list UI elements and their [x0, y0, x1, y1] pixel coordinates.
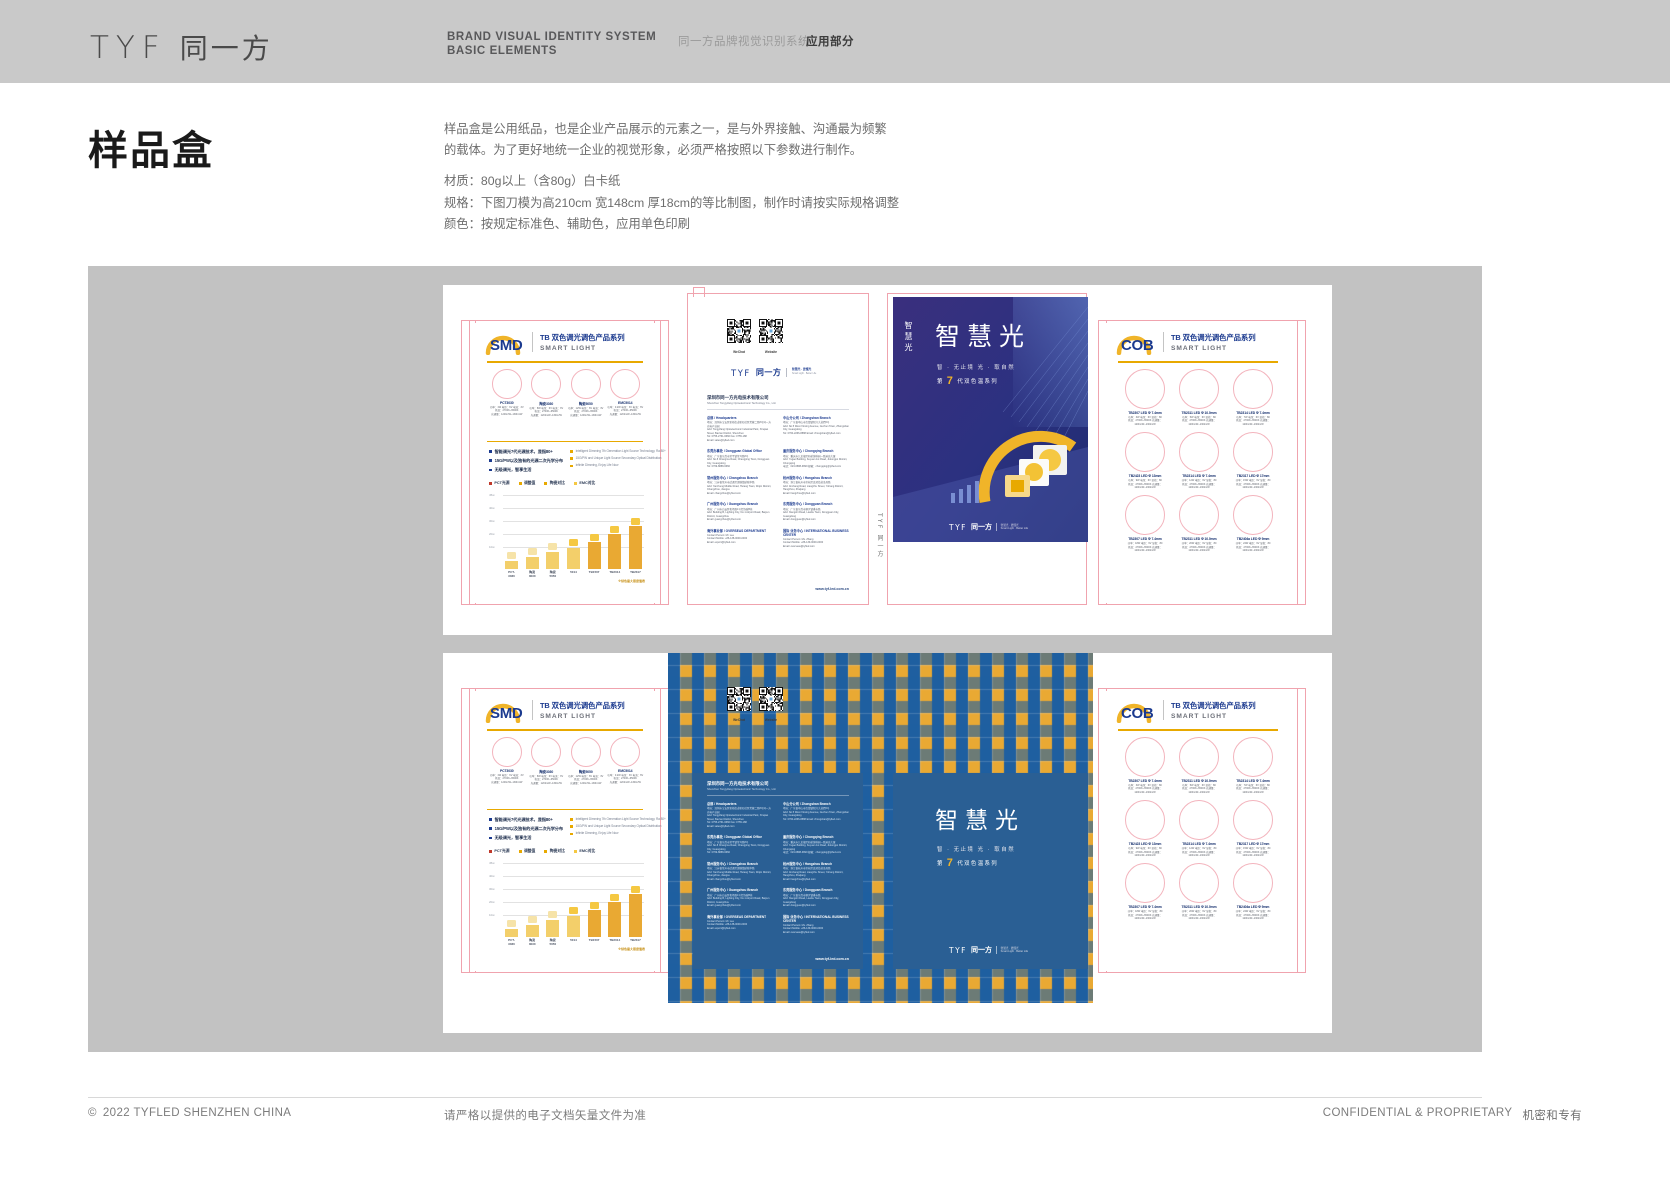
chip-swatch-icon	[569, 907, 578, 914]
chart-gridline	[503, 863, 644, 864]
chart-gridline	[503, 495, 644, 496]
chart-y-tick-label: 10w	[489, 545, 495, 549]
product-cell[interactable]: PCT3030 功率：1W 电压：6V 电流：3V色温：2700K~6500K光…	[487, 737, 527, 785]
legend-swatch-icon	[519, 850, 522, 853]
product-cell[interactable]: 陶瓷5050 功率：12W 电压：6V 电流：3V色温：2700K~6500K光…	[566, 737, 606, 785]
product-name: TB2317 LED Φ 17mm	[1226, 842, 1280, 846]
series-suffix: 代双色温系列	[957, 377, 998, 385]
office-body: 地址：深圳市宝安区新桥街道新和社区芙蓉二路8号同一方光电产业园Add: Tong…	[707, 421, 773, 442]
office-body: 地址：浙江省杭州市余杭区良渚街道金昌路Add: Jinchang Road, L…	[783, 481, 849, 495]
office-entry: 杭州服务中心 / Hangzhou Branch 地址：浙江省杭州市余杭区良渚街…	[783, 475, 849, 495]
chart-y-tick-label: 20w	[489, 900, 495, 904]
cob-spec-sheet-bottom: COB TB 双色调光调色产品系列 SMART LIGHT TB2307 LED…	[1106, 691, 1291, 971]
cob-title-cn-b: TB 双色调光调色产品系列	[1171, 700, 1256, 711]
office-body: Contact Person: Mr. LeeContact Mobile: +…	[707, 920, 773, 931]
chart-bar-column	[629, 518, 642, 569]
product-name: EMC5014	[606, 401, 646, 405]
legend-item: PCT光源	[489, 849, 510, 854]
chart-gridline	[503, 521, 644, 522]
product-cell[interactable]: 陶瓷3030 功率：8W 电压：6V 电流：3V色温：2700K~6500K光通…	[527, 369, 567, 417]
product-circle-outline	[1125, 737, 1165, 777]
office-entry: 总部 / Headquarters 地址：深圳市宝安区新桥街道新和社区芙蓉二路8…	[707, 415, 773, 442]
footer-confidential: CONFIDENTIAL & PROPRIETARY 机密和专有	[1323, 1107, 1582, 1123]
legend-item: EMC对比	[574, 849, 595, 854]
chip-swatch-icon	[631, 886, 640, 893]
cover-brand-lockup: TYF 同一方 智慧光 · 更懂光 Smart Light · Better L…	[949, 522, 1028, 532]
office-entry: 重庆服务中心 / Chongqing Branch 地址：重庆市九龙坡区石桥铺科…	[783, 834, 849, 854]
bullet-text: 无级调光，智享生活	[495, 467, 532, 473]
product-name: 陶瓷5050	[566, 769, 606, 774]
product-cell[interactable]: PCT3030 功率：1W 电压：6V 电流：3V色温：2700K~6500K光…	[487, 369, 527, 417]
office-title: 海外事业部 / OVERSEAS DEPARTMENT	[707, 914, 773, 919]
office-entry: 常州服务中心 / Changzhou Branch 地址：江苏省常州市武进区湖塘…	[707, 861, 773, 881]
contact-logo-mark: TYF	[731, 368, 751, 378]
cob-product-grid: TB2307 LED Φ 7.4mm 功率：3W 电压：6V 显指：80色温：2…	[1118, 369, 1280, 553]
cover-slogan-b: 智慧光 · 更懂光 Smart Light · Better Life	[1001, 947, 1028, 954]
product-name: TB2423 LED Φ 13mm	[1118, 474, 1172, 478]
product-name: TB2314 LED Φ 7.4mm	[1172, 474, 1226, 478]
company-name-en: Shenzhen Tongyifang Optoelectronic Techn…	[707, 402, 776, 405]
logo-divider	[786, 368, 787, 377]
bullet-dot-icon	[489, 837, 492, 840]
product-spec: 功率：1W 电压：6V 电流：3V色温：2700K~6500K光通量：120lm…	[487, 774, 527, 784]
product-spec: 功率：3W 电压：6V 显指：80色温：2700K~6500K 光通量：120l…	[1118, 416, 1172, 426]
product-spec: 功率：12W 电压：6V 电流：3V色温：2700K~6500K光通量：120l…	[566, 775, 606, 785]
company-name-cn: 深圳市同一方光电技术有限公司	[707, 395, 768, 400]
product-name: PCT3030	[487, 769, 527, 773]
feature-bullet: 无级调光，智享生活	[489, 835, 564, 841]
bullet-dot-icon	[489, 818, 492, 821]
bullet-text: Infinite Dimming, Enjoy Life Now	[576, 463, 619, 467]
chip-swatch-icon	[610, 894, 619, 901]
office-body: 地址：广东省中山市古镇镇新兴大道西5号Add: No.5 West Xinxin…	[783, 807, 849, 821]
smd-spec-sheet: SMD TB 双色调光调色产品系列 SMART LIGHT PCT3030 功率…	[475, 323, 655, 603]
smd-bullets-chinese-b: 智能调光7代光源技术，显指80+ 15G/PW以及独有的光源二次光学分布 无级调…	[489, 817, 564, 845]
bullet-text: Infinite Dimming, Enjoy Life Now	[576, 831, 619, 835]
office-body: 地址：广州市白云区机场路1号灯饰城B栋Add: Building B, Ligh…	[707, 508, 773, 522]
cover-slogan-en: Smart Light · Better Life	[1001, 527, 1028, 530]
product-circle-outline	[1233, 369, 1273, 409]
chart-bar-column	[505, 920, 518, 937]
office-body: 地址：浙江省杭州市余杭区良渚街道金昌路Add: Jinchang Road, L…	[783, 867, 849, 881]
product-cell[interactable]: EMC5014 功率：0.2W 电压：3V 电流：6V色温：2700K~6500…	[606, 369, 646, 417]
confidential-en: CONFIDENTIAL & PROPRIETARY	[1323, 1107, 1513, 1123]
spine-brand-text: TYF 同一方	[875, 513, 884, 559]
office-entry: 东莞服务中心 / Dongguan Branch 地址：广东省东莞市寮步镇香市路…	[783, 887, 849, 907]
product-cell[interactable]: TB2307 LED Φ 7.4mm 功率：18W 电压：6V 显指：80色温：…	[1118, 495, 1172, 552]
product-spec: 功率：24W 电压：6V 显指：80色温：2700K~6500K 光通量：120…	[1226, 542, 1280, 552]
product-name: TB2314 LED Φ 7.4mm	[1226, 411, 1280, 415]
chip-swatch-icon	[548, 543, 557, 550]
spec-list: 材质：80g以上（含80g）白卡纸 规格：下图刀模为高210cm 宽148cm …	[444, 171, 1004, 236]
product-cell[interactable]: TB2423 LED Φ 13mm 功率：9W 电压：6V 显指：80色温：27…	[1118, 432, 1172, 489]
cob-header-titles-b: TB 双色调光调色产品系列 SMART LIGHT	[1171, 700, 1256, 720]
chart-legend: PCT光源 调整值 陶瓷对比 EMC对比	[489, 481, 595, 486]
product-circle-outline	[531, 737, 561, 767]
smd-badge-b: SMD	[485, 697, 525, 723]
office-entry: 中山分公司 / Zhongshan Branch 地址：广东省中山市古镇镇新兴大…	[783, 801, 849, 828]
product-name: TB2307 LED Φ 7.4mm	[1118, 905, 1172, 909]
product-circle-outline	[1233, 863, 1273, 903]
cob-badge-text: COB	[1121, 337, 1153, 354]
legend-item: 调整值	[519, 849, 536, 854]
qr-caption: Website	[759, 718, 783, 722]
qr-code-row-b: WeChat Website	[727, 687, 783, 722]
chart-x-label: 陶瓷 5050	[546, 570, 559, 578]
product-cover-artwork-bottom: 智慧光 智 · 无止境 光 · 取自然 第 7 代双色温系列 TYF 同一方 智…	[893, 773, 1088, 969]
legend-swatch-icon	[489, 482, 492, 485]
smd-spec-sheet-bottom: SMD TB 双色调光调色产品系列 SMART LIGHT PCT3030 功率…	[475, 691, 655, 971]
product-cell[interactable]: TB2307 LED Φ 7.4mm 功率：3W 电压：6V 显指：80色温：2…	[1118, 369, 1172, 426]
product-cell[interactable]: TB2307 LED Φ 7.4mm 功率：3W 电压：6V 显指：80色温：2…	[1118, 737, 1172, 794]
chart-x-label: PCT-3030	[505, 570, 518, 578]
chip-swatch-icon	[548, 911, 557, 918]
legend-item: 陶瓷对比	[544, 849, 565, 854]
chart-bar	[588, 542, 601, 569]
footer-copyright: © 2022 TYFLED SHENZHEN CHINA	[88, 1107, 291, 1119]
cover-logo-divider-b	[996, 946, 997, 954]
product-cell[interactable]: TB2423 LED Φ 13mm 功率：9W 电压：6V 显指：80色温：27…	[1118, 800, 1172, 857]
cob-gold-rule	[1118, 361, 1278, 363]
bullet-text: 15G/PW以及独有的光源二次光学分布	[495, 458, 563, 464]
product-spec: 功率：3W 电压：6V 显指：80色温：2700K~6500K 光通量：120l…	[1118, 784, 1172, 794]
chart-bar-column	[546, 543, 559, 569]
legend-label: EMC对比	[579, 481, 595, 486]
chart-bar	[608, 902, 621, 937]
series-number: 7	[947, 375, 955, 387]
smd-sheet-header: SMD TB 双色调光调色产品系列 SMART LIGHT	[485, 329, 625, 355]
legend-item: 调整值	[519, 481, 536, 486]
product-spec: 功率：18W 电压：6V 显指：80色温：2700K~6500K 光通量：120…	[1118, 542, 1172, 552]
dieline-board-tartan: SMD TB 双色调光调色产品系列 SMART LIGHT PCT3030 功率…	[443, 653, 1332, 1033]
smd-title-cn: TB 双色调光调色产品系列	[540, 332, 625, 343]
office-entry: 总部 / Headquarters 地址：深圳市宝安区新桥街道新和社区芙蓉二路8…	[707, 801, 773, 828]
chart-bars	[505, 523, 642, 569]
cover-subtitle-slogan-b: 智 · 无止境 光 · 取自然	[937, 845, 1015, 853]
footer-divider	[88, 1097, 1482, 1098]
cob-title-en-b: SMART LIGHT	[1171, 713, 1256, 720]
office-body: 地址：广东省东莞市寮步镇香市路Add: Xiangshi Road, Liaob…	[783, 508, 849, 522]
cob-title-en: SMART LIGHT	[1171, 345, 1256, 352]
office-body: Contact Person: Mr. LeeContact Mobile: +…	[707, 534, 773, 545]
chart-y-tick-label: 45w	[489, 861, 495, 865]
smd-header-titles: TB 双色调光调色产品系列 SMART LIGHT	[540, 332, 625, 352]
cob-sheet-header: COB TB 双色调光调色产品系列 SMART LIGHT	[1116, 329, 1256, 355]
product-circle-outline	[1179, 800, 1219, 840]
chart-gridline	[503, 508, 644, 509]
smd-rule-2-b	[487, 809, 643, 810]
chart-x-label: 陶瓷 5050	[546, 938, 559, 946]
product-cell[interactable]: TB2314 LED Φ 7.4mm 功率：7W 电压：6V 显指：80色温：2…	[1226, 737, 1280, 794]
product-circle-outline	[492, 737, 522, 767]
product-circle-outline	[492, 369, 522, 399]
cob-header-titles: TB 双色调光调色产品系列 SMART LIGHT	[1171, 332, 1256, 352]
company-name-en-b: Shenzhen Tongyifang Optoelectronic Techn…	[707, 788, 776, 791]
series-suffix-b: 代双色温系列	[957, 859, 998, 867]
smd-title-cn-b: TB 双色调光调色产品系列	[540, 700, 625, 711]
chart-x-label: 5014	[567, 570, 580, 578]
product-spec: 功率：8W 电压：6V 电流：3V色温：2700K~6500K光通量：120lm…	[527, 407, 567, 417]
product-circle-outline	[610, 369, 640, 399]
contact-blue-block: 深圳市同一方光电技术有限公司 Shenzhen Tongyifang Optoe…	[693, 773, 863, 969]
header-divider	[1163, 332, 1164, 352]
intro-paragraph: 样品盒是公用纸品，也是企业产品展示的元素之一，是与外界接触、沟通最为频繁的载体。…	[444, 119, 896, 161]
product-cell[interactable]: TB2307 LED Φ 7.4mm 功率：18W 电压：6V 显指：80色温：…	[1118, 863, 1172, 920]
qr-code-item[interactable]: Website	[759, 319, 783, 354]
header-section-label: 应用部分	[806, 33, 854, 49]
feature-bullet: 15G/PW以及独有的光源二次光学分布	[489, 458, 564, 464]
office-body: 地址：江苏省常州市武进区湖塘镇延政中路Add: Yanzheng Middle …	[707, 481, 773, 495]
product-name: TB2311 LED Φ 10.0mm	[1172, 537, 1226, 541]
qr-code-item[interactable]: WeChat	[727, 319, 751, 354]
product-spec: 功率：15W 电压：6V 显指：80色温：2700K~6500K 光通量：120…	[1226, 847, 1280, 857]
chart-bar	[505, 561, 518, 569]
product-name: TB2317 LED Φ 17mm	[1226, 474, 1280, 478]
product-cell[interactable]: TB2311 LED Φ 10.0mm 功率：20W 电压：6V 显指：80色温…	[1172, 495, 1226, 552]
cob-badge: COB	[1116, 329, 1156, 355]
product-cell[interactable]: EMC5014 功率：0.2W 电压：3V 电流：6V色温：2700K~6500…	[606, 737, 646, 785]
product-circle-outline	[1179, 432, 1219, 472]
bullet-dot-icon	[489, 459, 492, 462]
office-entry: 东莞办事处 / Dongguan Global Office 地址：广东省东莞市…	[707, 448, 773, 468]
office-entry: 杭州服务中心 / Hangzhou Branch 地址：浙江省杭州市余杭区良渚街…	[783, 861, 849, 881]
header-system-name: 同一方品牌视觉识别系统	[678, 33, 810, 49]
office-entry: 常州服务中心 / Changzhou Branch 地址：江苏省常州市武进区湖塘…	[707, 475, 773, 495]
office-title: 常州服务中心 / Changzhou Branch	[707, 475, 773, 480]
product-circle-outline	[571, 737, 601, 767]
series-number-b: 7	[947, 857, 955, 869]
product-cell[interactable]: 陶瓷5050 功率：12W 电压：6V 电流：3V色温：2700K~6500K光…	[566, 369, 606, 417]
product-cell[interactable]: TB2404a LED Φ 9mm 功率：24W 电压：6V 显指：80色温：2…	[1226, 495, 1280, 552]
office-title: 国际 业务中心 / INTERNATIONAL BUSINESS CENTER	[783, 528, 849, 537]
chart-bar-column	[608, 526, 621, 569]
company-name-block: 深圳市同一方光电技术有限公司 Shenzhen Tongyifang Optoe…	[707, 395, 776, 405]
website-url: www.tyf-led.com.cn	[815, 587, 849, 591]
series-prefix-b: 第	[937, 859, 944, 867]
product-circle-outline	[1125, 495, 1165, 535]
chart-bar-column	[567, 539, 580, 569]
product-name: 陶瓷3030	[527, 401, 567, 406]
chart-bar	[526, 925, 539, 937]
bullet-dot-icon	[570, 818, 573, 821]
cover-logo-mark-b: TYF	[949, 946, 967, 955]
chart-x-label: 陶瓷 3030	[526, 570, 539, 578]
product-circle-outline	[1233, 800, 1273, 840]
product-spec: 功率：24W 电压：6V 显指：80色温：2700K~6500K 光通量：120…	[1226, 910, 1280, 920]
chip-swatch-icon	[569, 539, 578, 546]
legend-item: EMC对比	[574, 481, 595, 486]
office-title: 东莞办事处 / Dongguan Global Office	[707, 834, 773, 839]
header-divider	[532, 700, 533, 720]
office-entry: 广州服务中心 / Guangzhou Branch 地址：广州市白云区机场路1号…	[707, 501, 773, 521]
feature-bullet: Infinite Dimming, Enjoy Life Now	[570, 463, 648, 467]
company-name-cn-b: 深圳市同一方光电技术有限公司	[707, 781, 768, 786]
artwork-stage: SMD TB 双色调光调色产品系列 SMART LIGHT PCT3030 功率…	[88, 266, 1482, 1052]
office-body: 地址：广东省东莞市寮步镇香市路Add: Xiangshi Road, Liaob…	[783, 894, 849, 908]
smd-title-en-b: SMART LIGHT	[540, 713, 625, 720]
page-title: 样品盒	[88, 118, 214, 176]
smd-badge-text: SMD	[490, 337, 522, 354]
feature-bullet: 15G/PW以及独有的光源二次光学分布	[489, 826, 564, 832]
qr-code-item[interactable]: Website	[759, 687, 783, 722]
product-cell[interactable]: TB2314 LED Φ 7.4mm 功率：12W 电压：6V 显指：80色温：…	[1172, 432, 1226, 489]
legend-swatch-icon	[489, 850, 492, 853]
feature-bullet: Infinite Dimming, Enjoy Life Now	[570, 831, 648, 835]
chart-x-label: TB2317	[629, 570, 642, 578]
office-entry: 中山分公司 / Zhongshan Branch 地址：广东省中山市古镇镇新兴大…	[783, 415, 849, 442]
chart-x-label: TB2014	[608, 938, 621, 946]
chart-bar-column	[608, 894, 621, 937]
product-cell[interactable]: TB2317 LED Φ 17mm 功率：15W 电压：6V 显指：80色温：2…	[1226, 432, 1280, 489]
office-address-grid-b: 总部 / Headquarters 地址：深圳市宝安区新桥街道新和社区芙蓉二路8…	[707, 801, 849, 934]
series-prefix: 第	[937, 377, 944, 385]
chart-gridline	[503, 889, 644, 890]
page-header: TYF 同一方 BRAND VISUAL IDENTITY SYSTEM BAS…	[0, 0, 1670, 83]
product-circle-outline	[1233, 432, 1273, 472]
chart-y-tick-label: 40w	[489, 874, 495, 878]
office-entry: 重庆服务中心 / Chongqing Branch 地址：重庆市九龙坡区石桥铺科…	[783, 448, 849, 468]
chart-x-label: TB2014	[608, 570, 621, 578]
product-circle-outline	[1233, 737, 1273, 777]
chart-x-label: TB1507	[588, 938, 601, 946]
legend-item: 陶瓷对比	[544, 481, 565, 486]
cover-spine-title: 智慧光	[903, 321, 914, 354]
logo-mark-text: TYF	[90, 30, 167, 66]
qr-caption: Website	[759, 350, 783, 354]
office-title: 杭州服务中心 / Hangzhou Branch	[783, 475, 849, 480]
chart-y-tick-label: 45w	[489, 493, 495, 497]
product-name: TB2307 LED Φ 7.4mm	[1118, 537, 1172, 541]
legend-label: PCT光源	[494, 849, 509, 854]
chart-bar	[608, 534, 621, 569]
contact-panel: WeChat Website TYF 同一方 智慧光 · 更懂光 Smart L…	[693, 297, 863, 601]
cob-gold-rule-b	[1118, 729, 1278, 731]
website-url-b: www.tyf-led.com.cn	[815, 957, 849, 961]
cover-brand-lockup-b: TYF 同一方 智慧光 · 更懂光 Smart Light · Better L…	[949, 945, 1028, 955]
product-circle-outline	[1125, 369, 1165, 409]
bullet-dot-icon	[570, 465, 573, 468]
product-name: TB2404a LED Φ 9mm	[1226, 905, 1280, 909]
qr-code-item[interactable]: WeChat	[727, 687, 751, 722]
product-circle-outline	[1125, 800, 1165, 840]
product-circle-outline	[1179, 369, 1219, 409]
office-entry: 海外事业部 / OVERSEAS DEPARTMENT Contact Pers…	[707, 528, 773, 549]
cover-main-title: 智慧光	[935, 325, 1031, 350]
cover-logo-mark: TYF	[949, 523, 967, 532]
logo-chinese-text: 同一方	[180, 27, 273, 67]
brand-logo[interactable]: TYF 同一方	[90, 27, 273, 67]
product-spec: 功率：0.2W 电压：3V 电流：6V色温：2700K~6500K光通量：120…	[606, 406, 646, 416]
product-cell[interactable]: TB2314 LED Φ 7.4mm 功率：12W 电压：6V 显指：80色温：…	[1172, 800, 1226, 857]
chart-y-tick-label: 30w	[489, 887, 495, 891]
feature-bullet: 智能调光7代光源技术，显指80+	[489, 449, 564, 455]
product-cell[interactable]: TB2311 LED Φ 10.0mm 功率：5W 电压：6V 显指：80色温：…	[1172, 737, 1226, 794]
office-body: 地址：广东省中山市古镇镇新兴大道西5号Add: No.5 West Xinxin…	[783, 421, 849, 435]
legend-swatch-icon	[519, 482, 522, 485]
header-english-title: BRAND VISUAL IDENTITY SYSTEM BASIC ELEME…	[447, 31, 656, 58]
product-cell[interactable]: 陶瓷3030 功率：8W 电压：6V 电流：3V色温：2700K~6500K光通…	[527, 737, 567, 785]
product-spec: 功率：20W 电压：6V 显指：80色温：2700K~6500K 光通量：120…	[1172, 910, 1226, 920]
office-title: 东莞服务中心 / Dongguan Branch	[783, 887, 849, 892]
power-comparison-chart-b: 45w 40w 30w 20w 10w	[489, 859, 644, 947]
legend-label: 调整值	[524, 481, 535, 486]
product-cell[interactable]: TB2311 LED Φ 10.0mm 功率：5W 电压：6V 显指：80色温：…	[1172, 369, 1226, 426]
office-title: 重庆服务中心 / Chongqing Branch	[783, 834, 849, 839]
product-circle-outline	[1179, 737, 1219, 777]
office-body: 地址：广东省东莞市常平镇常马路8号Add: No.8 Changma Road,…	[707, 841, 773, 855]
product-circle-outline	[1125, 432, 1165, 472]
cover-slogan-en-b: Smart Light · Better Life	[1001, 950, 1028, 953]
header-divider	[1163, 700, 1164, 720]
bullet-dot-icon	[489, 827, 492, 830]
cover-series-line-b: 第 7 代双色温系列	[937, 857, 998, 869]
chart-x-labels: PCT-3030陶瓷 3030陶瓷 50505014TB1507TB2014TB…	[505, 570, 642, 578]
smd-bullets-english-b: Intelligent Dimming 7th Generation Light…	[570, 817, 648, 839]
cover-logo-divider	[996, 523, 997, 531]
product-cell[interactable]: TB2317 LED Φ 17mm 功率：15W 电压：6V 显指：80色温：2…	[1226, 800, 1280, 857]
qr-caption: WeChat	[727, 350, 751, 354]
product-cell[interactable]: TB2314 LED Φ 7.4mm 功率：7W 电压：6V 显指：80色温：2…	[1226, 369, 1280, 426]
office-entry: 国际 业务中心 / INTERNATIONAL BUSINESS CENTER …	[783, 528, 849, 549]
office-title: 杭州服务中心 / Hangzhou Branch	[783, 861, 849, 866]
chart-bars-b	[505, 891, 642, 937]
chip-swatch-icon	[528, 548, 537, 555]
header-en-line2: BASIC ELEMENTS	[447, 45, 656, 59]
legend-label: PCT光源	[494, 481, 509, 486]
bullet-dot-icon	[489, 469, 492, 472]
company-rule	[707, 409, 849, 410]
product-cell[interactable]: TB2311 LED Φ 10.0mm 功率：20W 电压：6V 显指：80色温…	[1172, 863, 1226, 920]
office-body: Contact Person: Ms. ZhangContact Mobile:…	[783, 924, 849, 935]
smd-header-titles-b: TB 双色调光调色产品系列 SMART LIGHT	[540, 700, 625, 720]
product-name: TB2314 LED Φ 7.4mm	[1172, 842, 1226, 846]
chart-bar	[505, 929, 518, 937]
office-body: 地址：深圳市宝安区新桥街道新和社区芙蓉二路8号同一方光电产业园Add: Tong…	[707, 807, 773, 828]
copyright-text: 2022 TYFLED SHENZHEN CHINA	[103, 1107, 292, 1119]
legend-label: EMC对比	[579, 849, 595, 854]
chip-swatch-icon	[590, 902, 599, 909]
office-body: 地址：重庆市九龙坡区石桥铺科园一路渝高大厦Add: Yugao Building…	[783, 455, 849, 469]
product-cell[interactable]: TB2404a LED Φ 9mm 功率：24W 电压：6V 显指：80色温：2…	[1226, 863, 1280, 920]
product-name: 陶瓷3030	[527, 769, 567, 774]
dieline-board-flat: SMD TB 双色调光调色产品系列 SMART LIGHT PCT3030 功率…	[443, 285, 1332, 635]
chart-x-label: PCT-3030	[505, 938, 518, 946]
slogan-cn: 智慧光 · 更懂光	[792, 367, 811, 371]
product-spec: 功率：20W 电压：6V 显指：80色温：2700K~6500K 光通量：120…	[1172, 542, 1226, 552]
cover-subtitle-slogan: 智 · 无止境 光 · 取自然	[937, 363, 1015, 371]
bullet-text: 无级调光，智享生活	[495, 835, 532, 841]
bullet-text: Intelligent Dimming 7th Generation Light…	[576, 449, 666, 453]
cover-logo-cn-b: 同一方	[971, 945, 992, 955]
copyright-icon: ©	[88, 1107, 97, 1119]
smd-badge-text-b: SMD	[490, 705, 522, 722]
bullet-dot-icon	[570, 450, 573, 453]
bullet-text: 15G/PW and Unique Light Source Secondary…	[576, 824, 662, 828]
office-title: 总部 / Headquarters	[707, 801, 773, 806]
smd-gold-rule	[487, 361, 643, 363]
office-entry: 国际 业务中心 / INTERNATIONAL BUSINESS CENTER …	[783, 914, 849, 935]
product-name: EMC5014	[606, 769, 646, 773]
bullet-dot-icon	[489, 450, 492, 453]
product-spec: 功率：5W 电压：6V 显指：80色温：2700K~6500K 光通量：120l…	[1172, 416, 1226, 426]
chart-x-label: TB1507	[588, 570, 601, 578]
chart-bar	[526, 557, 539, 569]
cover-logo-cn: 同一方	[971, 522, 992, 532]
product-name: TB2423 LED Φ 13mm	[1118, 842, 1172, 846]
page-root: TYF 同一方 BRAND VISUAL IDENTITY SYSTEM BAS…	[0, 0, 1670, 1181]
product-circle-outline	[610, 737, 640, 767]
chart-note-b: ※绿色最大照度值表	[618, 947, 645, 951]
